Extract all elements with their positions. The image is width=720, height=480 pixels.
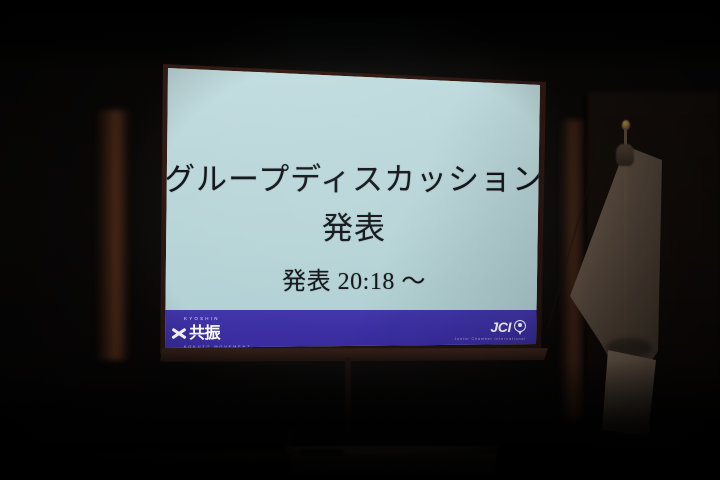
kyoshin-logo-kanji: 共振 [189, 324, 220, 342]
floor-shadow [0, 360, 720, 480]
kyoshin-logo-main: 共振 [170, 322, 266, 344]
slide-schedule-time: 発表 20:18 〜 [160, 261, 548, 296]
jci-pin-icon [514, 320, 526, 334]
jci-tagline: Junior Chamber International [454, 337, 526, 341]
kyoshin-x-mark-icon [170, 325, 187, 342]
photo-scene: グループディスカッション 発表 発表 20:18 〜 KYOSHIN 共振 KO… [0, 0, 720, 480]
slide-body: グループディスカッション 発表 発表 20:18 〜 [160, 38, 548, 310]
flag-tie [616, 144, 634, 166]
slide-subtitle: 発表 [160, 203, 548, 248]
jci-logo: JCI Junior Chamber International [454, 319, 526, 341]
presentation-slide: グループディスカッション 発表 発表 20:18 〜 KYOSHIN 共振 KO… [160, 38, 548, 358]
slide-title: グループディスカッション [160, 154, 548, 199]
jci-wordmark: JCI [490, 319, 511, 335]
screen-surface: グループディスカッション 発表 発表 20:18 〜 KYOSHIN 共振 KO… [160, 38, 548, 358]
jci-logo-row: JCI [490, 319, 526, 335]
